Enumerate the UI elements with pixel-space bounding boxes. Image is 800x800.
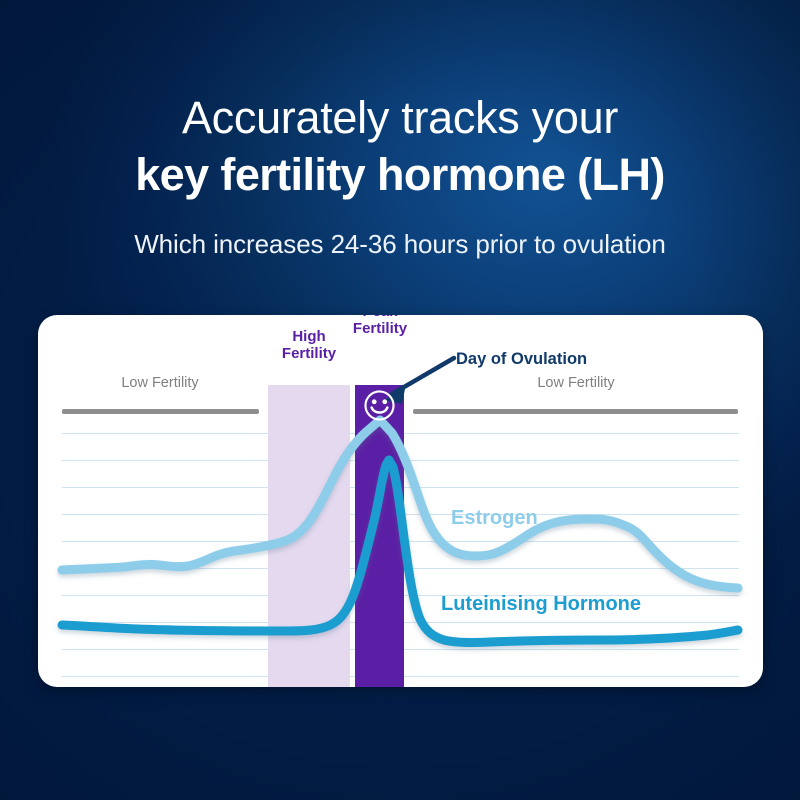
luteinising-hormone-series-label: Luteinising Hormone xyxy=(441,593,641,616)
day-of-ovulation-label: Day of Ovulation xyxy=(456,350,587,369)
smiley-face-icon xyxy=(363,389,396,422)
headline-line-2: key fertility hormone (LH) xyxy=(0,146,800,204)
headline-line-1: Accurately tracks your xyxy=(0,90,800,146)
peak-fertility-label: Peak Fertility xyxy=(353,315,407,337)
estrogen-series-label: Estrogen xyxy=(451,507,538,530)
hormone-chart-card: Low Fertility Low Fertility High Fertili… xyxy=(38,315,763,687)
headline: Accurately tracks your key fertility hor… xyxy=(0,90,800,204)
high-fertility-label-line-1: High xyxy=(292,328,325,345)
low-fertility-label-right: Low Fertility xyxy=(537,375,614,391)
chart-plot-area: Low Fertility Low Fertility High Fertili… xyxy=(38,315,763,687)
high-fertility-label: High Fertility xyxy=(282,328,336,362)
subheadline: Which increases 24-36 hours prior to ovu… xyxy=(0,229,800,260)
peak-fertility-label-line-2: Fertility xyxy=(353,320,407,337)
high-fertility-label-line-2: Fertility xyxy=(282,345,336,362)
low-fertility-label-left: Low Fertility xyxy=(121,375,198,391)
